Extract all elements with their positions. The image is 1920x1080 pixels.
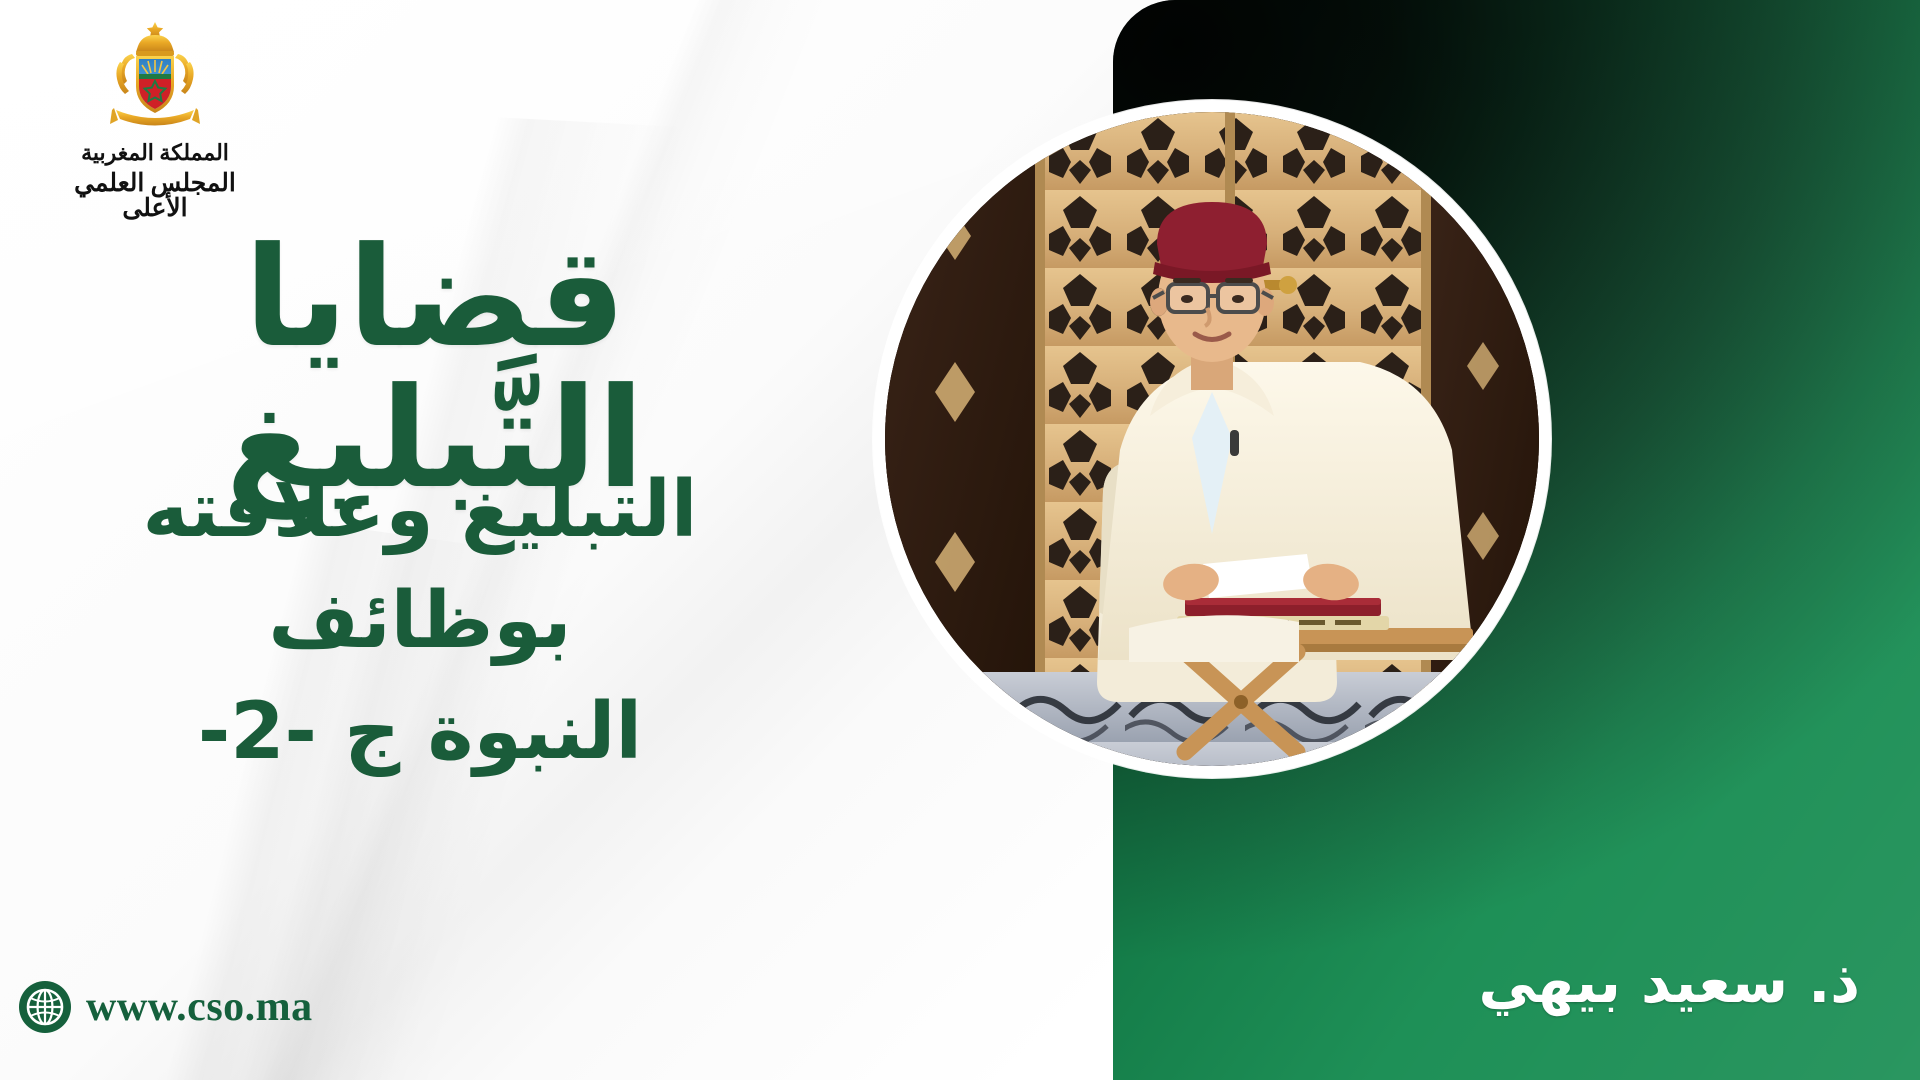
logo-kingdom-text: المملكة المغربية	[55, 142, 255, 164]
speaker-portrait-artwork	[885, 112, 1539, 766]
website-url[interactable]: www.cso.ma	[86, 983, 313, 1031]
subtitle-line-1: التبليغ وعلاقته بوظائف	[25, 455, 815, 677]
slide-canvas: المملكة المغربية المجلس العلمي الأعلى قض…	[0, 0, 1920, 1080]
portrait-ring	[873, 100, 1551, 778]
institution-logo: المملكة المغربية المجلس العلمي الأعلى	[55, 18, 255, 221]
website-footer[interactable]: www.cso.ma	[18, 980, 313, 1034]
logo-council-text: المجلس العلمي الأعلى	[55, 171, 255, 221]
globe-icon	[18, 980, 72, 1034]
page-subtitle: التبليغ وعلاقته بوظائف النبوة ج -2-	[25, 455, 815, 787]
speaker-name: ذ. سعيد بيهي	[1220, 946, 1860, 1019]
speaker-portrait	[885, 112, 1539, 766]
morocco-coat-of-arms-icon	[90, 18, 220, 138]
subtitle-line-2: النبوة ج -2-	[25, 677, 815, 788]
